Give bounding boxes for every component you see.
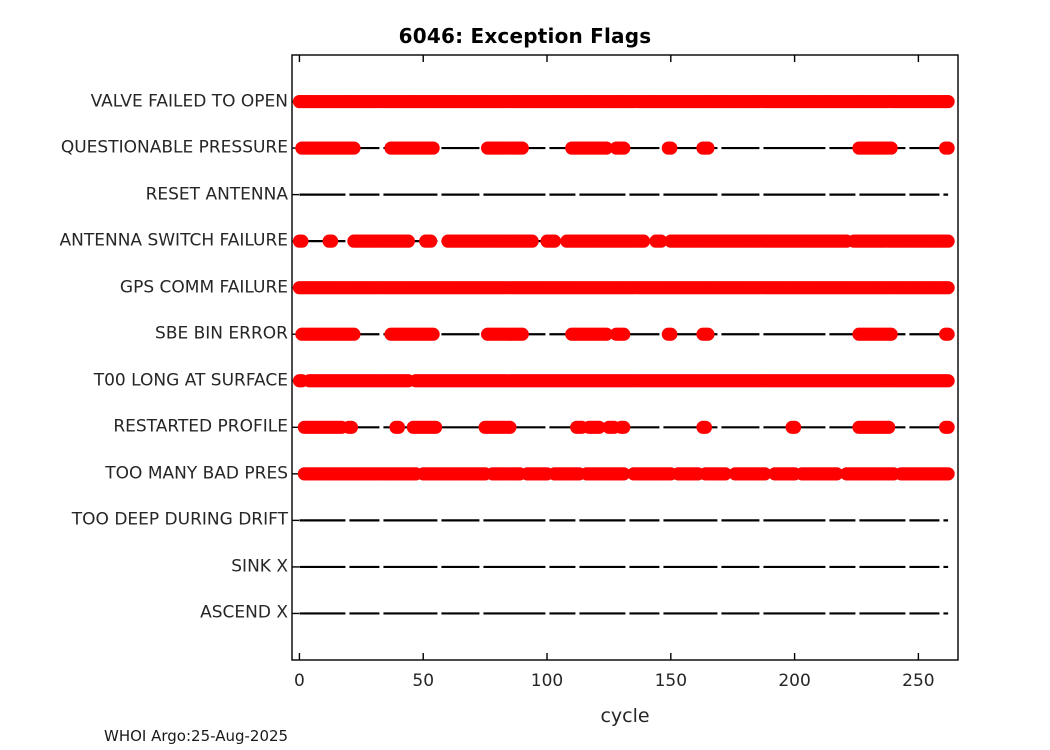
flag-marker: [617, 421, 630, 434]
flag-marker: [664, 328, 677, 341]
flag-marker: [664, 141, 677, 154]
flag-marker: [503, 421, 516, 434]
flag-markers: [295, 141, 954, 154]
flag-marker: [942, 374, 955, 387]
flag-markers: [298, 421, 955, 434]
flag-marker: [885, 141, 898, 154]
y-axis-label: TOO MANY BAD PRES: [105, 465, 288, 482]
flag-markers: [293, 281, 955, 294]
x-tick-label: 200: [778, 673, 810, 690]
y-axis-label: SBE BIN ERROR: [155, 326, 288, 343]
flag-marker: [526, 235, 539, 248]
flag-marker: [701, 141, 714, 154]
x-tick-label: 0: [294, 673, 305, 690]
flag-marker: [942, 328, 955, 341]
flag-marker: [392, 421, 405, 434]
flag-marker: [699, 421, 712, 434]
y-axis-label: RESET ANTENNA: [146, 186, 288, 203]
flag-marker: [942, 235, 955, 248]
flag-marker: [347, 328, 360, 341]
flag-marker: [882, 421, 895, 434]
flag-marker: [429, 421, 442, 434]
x-tick-label: 250: [902, 673, 934, 690]
flag-markers: [293, 374, 955, 387]
y-axis-label: RESTARTED PROFILE: [113, 419, 288, 436]
x-tick-label: 100: [531, 673, 563, 690]
flag-marker: [427, 328, 440, 341]
y-axis-label: ANTENNA SWITCH FAILURE: [60, 233, 288, 250]
flag-marker: [345, 421, 358, 434]
flag-marker: [548, 235, 561, 248]
flag-marker: [617, 141, 630, 154]
y-axis-label: ASCEND X: [200, 605, 288, 622]
flag-marker: [617, 328, 630, 341]
flag-marker: [424, 235, 437, 248]
flag-marker: [701, 328, 714, 341]
footer-note: WHOI Argo:25-Aug-2025: [104, 727, 288, 745]
flag-marker: [402, 235, 415, 248]
flag-marker: [427, 141, 440, 154]
x-axis-title: cycle: [292, 705, 958, 727]
flag-marker: [347, 141, 360, 154]
x-tick-label: 50: [412, 673, 434, 690]
y-axis-label: QUESTIONABLE PRESSURE: [61, 140, 288, 157]
y-axis-label: GPS COMM FAILURE: [120, 279, 288, 296]
flag-marker: [788, 421, 801, 434]
flag-markers: [293, 235, 955, 248]
flag-marker: [516, 328, 529, 341]
flag-marker: [942, 141, 955, 154]
flag-marker: [942, 95, 955, 108]
flag-markers: [293, 95, 955, 108]
flag-marker: [942, 467, 955, 480]
flag-markers: [298, 467, 955, 480]
flag-marker: [942, 281, 955, 294]
y-axis-label: SINK X: [231, 558, 288, 575]
flag-marker: [637, 235, 650, 248]
flag-markers: [295, 328, 954, 341]
x-tick-label: 150: [655, 673, 687, 690]
y-axis-label: TOO DEEP DURING DRIFT: [72, 512, 288, 529]
flag-marker: [516, 141, 529, 154]
figure-canvas: 6046: Exception Flags VALVE FAILED TO OP…: [0, 0, 1050, 750]
flag-marker: [325, 235, 338, 248]
flag-marker: [942, 421, 955, 434]
y-axis-label: VALVE FAILED TO OPEN: [91, 93, 288, 110]
flag-marker: [885, 328, 898, 341]
flag-marker: [295, 235, 308, 248]
y-axis-label: T00 LONG AT SURFACE: [94, 372, 288, 389]
